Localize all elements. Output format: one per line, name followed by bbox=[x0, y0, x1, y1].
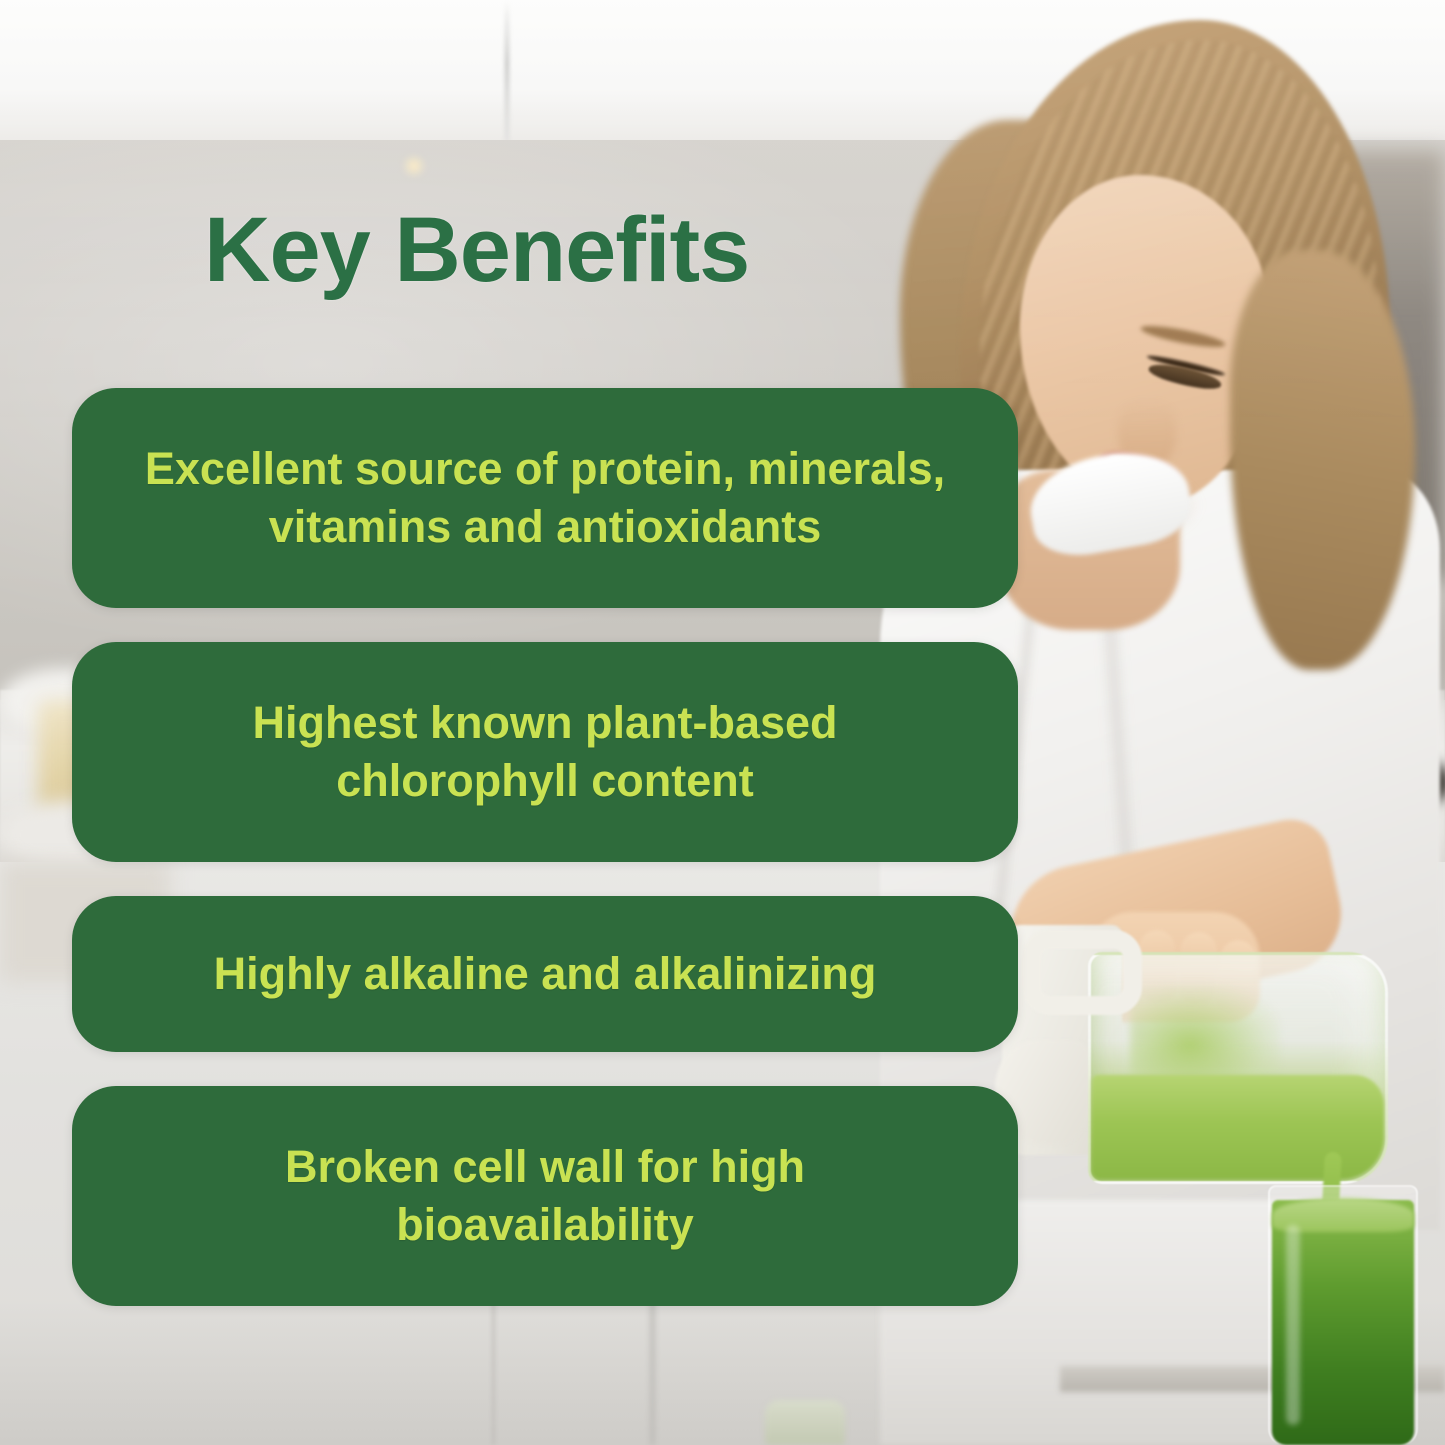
glass-highlight bbox=[1286, 1225, 1300, 1425]
hair-right bbox=[1230, 250, 1415, 670]
benefit-card-protein-minerals-vitamins: Excellent source of protein, minerals, v… bbox=[72, 388, 1018, 608]
benefit-card-text: Highest known plant-based chlorophyll co… bbox=[165, 694, 925, 811]
smoothie-splash bbox=[1130, 985, 1280, 1085]
blurred-bottle bbox=[765, 1400, 845, 1445]
blender-jug-handle bbox=[1022, 930, 1142, 1015]
benefit-card-text: Broken cell wall for high bioavailabilit… bbox=[205, 1138, 885, 1255]
benefit-card-text: Highly alkaline and alkalinizing bbox=[184, 945, 907, 1004]
page-title: Key Benefits bbox=[204, 204, 749, 296]
benefit-card-alkaline: Highly alkaline and alkalinizing bbox=[72, 896, 1018, 1052]
benefits-list: Excellent source of protein, minerals, v… bbox=[72, 388, 1018, 1306]
benefit-card-text: Excellent source of protein, minerals, v… bbox=[75, 440, 1015, 557]
key-benefits-infographic: Key Benefits Excellent source of protein… bbox=[0, 0, 1445, 1445]
benefit-card-chlorophyll: Highest known plant-based chlorophyll co… bbox=[72, 642, 1018, 862]
benefit-card-bioavailability: Broken cell wall for high bioavailabilit… bbox=[72, 1086, 1018, 1306]
